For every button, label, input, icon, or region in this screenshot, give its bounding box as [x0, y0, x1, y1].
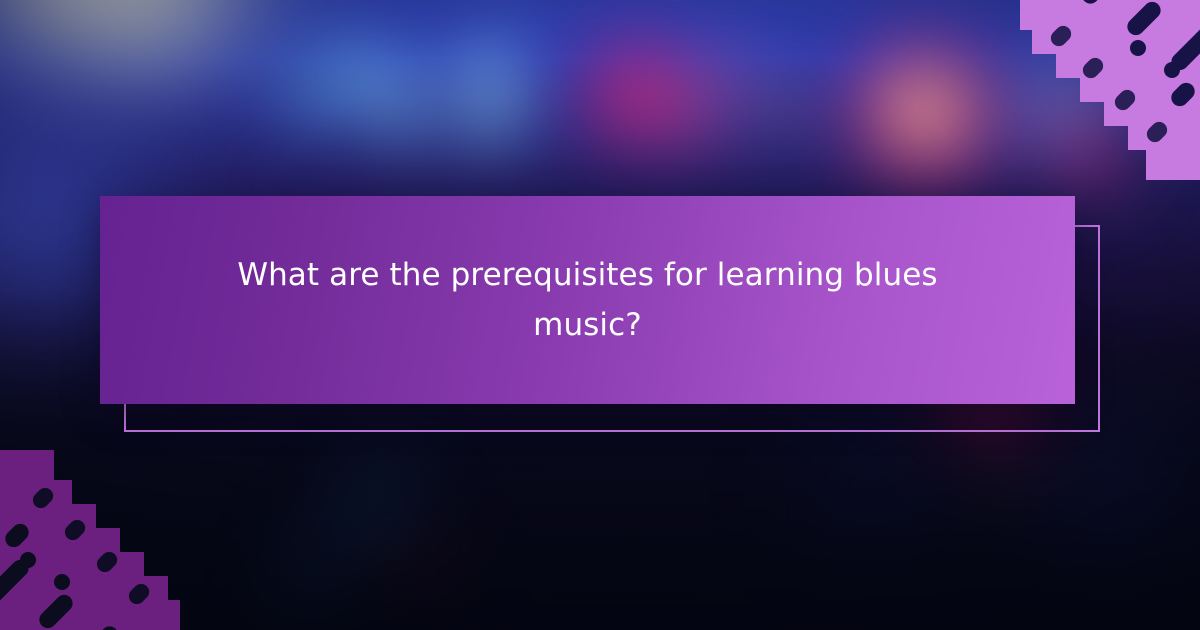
corner-decoration-bottom-left	[0, 450, 180, 630]
dotted-diagonal-corner-icon	[0, 450, 180, 630]
corner-decoration-top-right	[1020, 0, 1200, 180]
question-title: What are the prerequisites for learning …	[193, 250, 983, 350]
share-card-canvas: What are the prerequisites for learning …	[0, 0, 1200, 630]
question-card: What are the prerequisites for learning …	[100, 196, 1075, 404]
dotted-diagonal-corner-icon	[1020, 0, 1200, 180]
